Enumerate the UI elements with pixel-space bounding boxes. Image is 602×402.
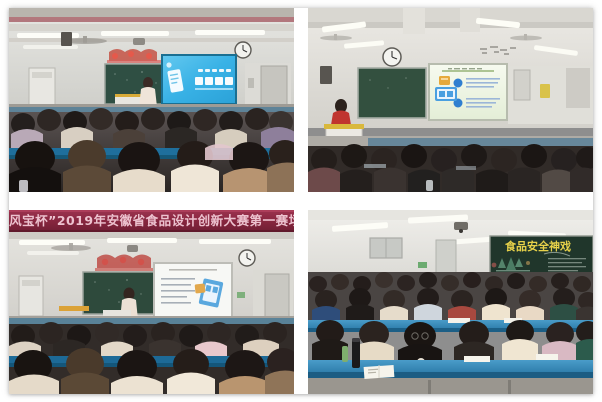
competition-banner-text: “风宝杯”2019年安徽省食品设计创新大赛第一赛场 [9,213,294,228]
photo-top-left[interactable]: Rows of seated students facing a present… [9,8,294,192]
photo-bottom-right[interactable]: Many students in winter coats sit at blu… [308,210,593,394]
collage-root: Rows of seated students facing a present… [0,0,602,402]
photo-top-right-image [308,8,593,192]
photo-bottom-left[interactable]: Students seated in a classroom below a l… [9,210,294,394]
photo-bottom-left-image: “风宝杯”2019年安徽省食品设计创新大赛第一赛场 [9,210,294,394]
photo-top-left-image [9,8,294,192]
blackboard-chalk-title: 食品安全神戏 [505,239,571,253]
photo-top-right[interactable]: A speaker wearing a red coat stands at a… [308,8,593,192]
photo-bottom-right-image: 食品安全神戏 [308,210,593,394]
photo-grid: Rows of seated students facing a present… [9,8,593,394]
